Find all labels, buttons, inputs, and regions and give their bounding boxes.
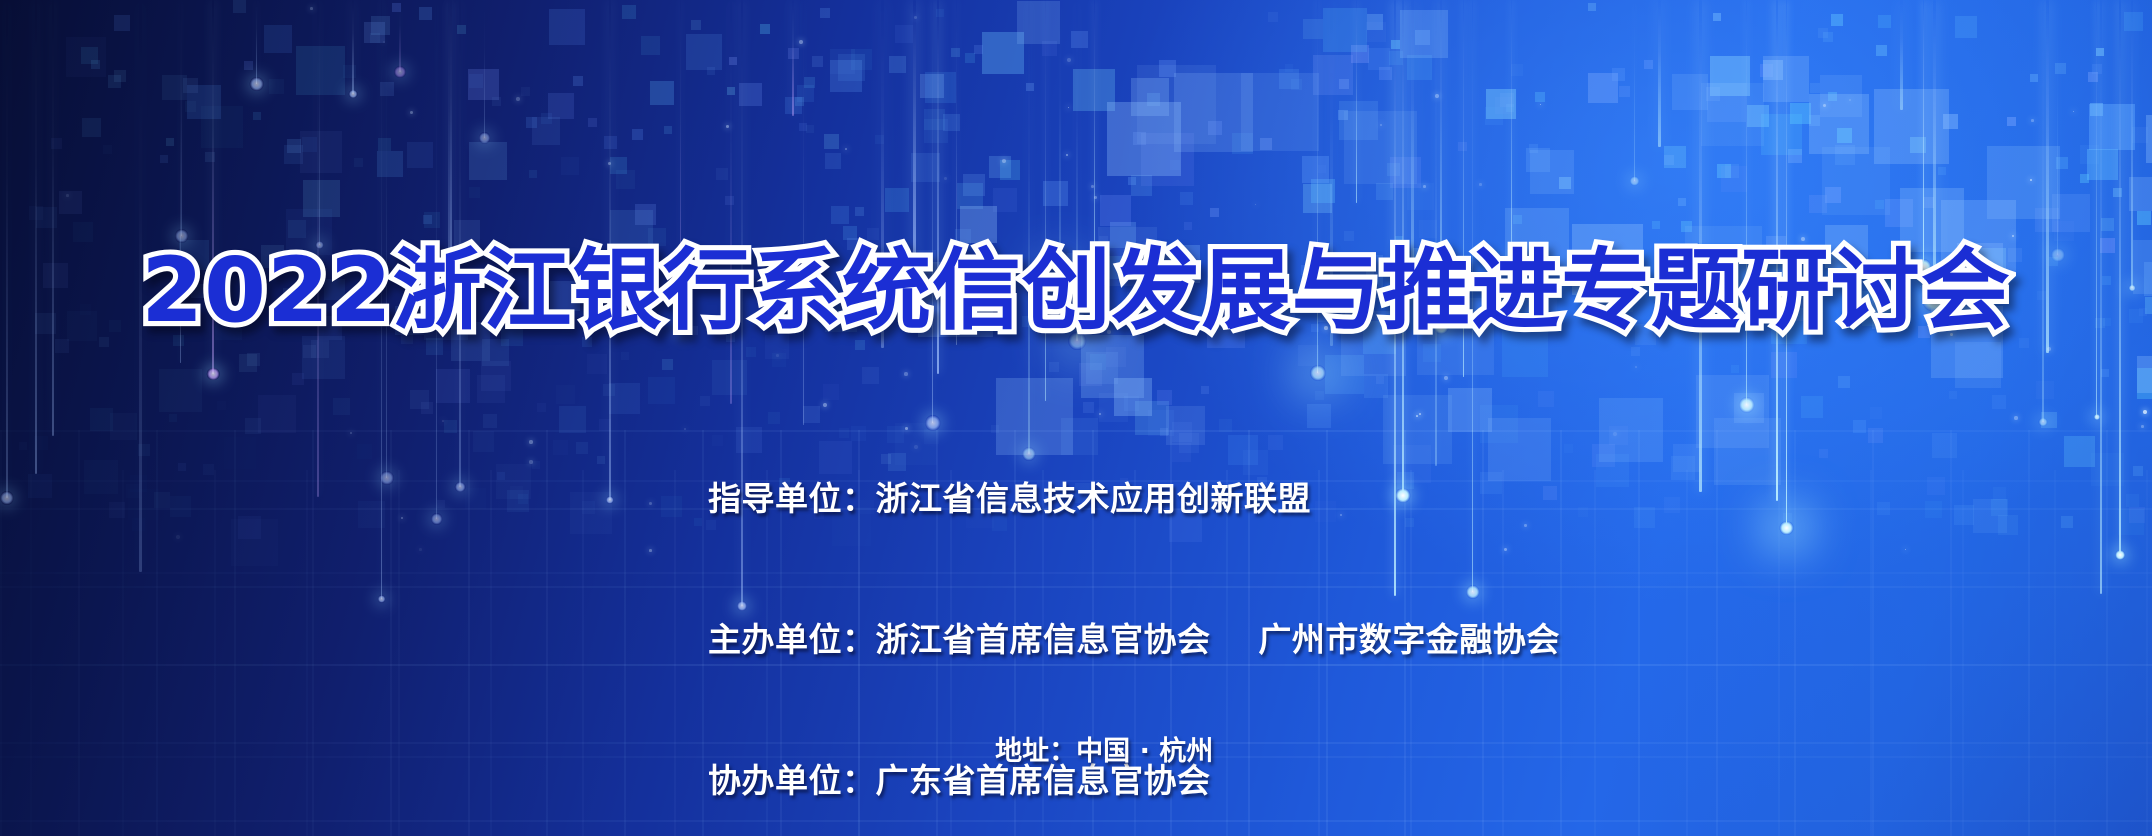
organization-value: 浙江省首席信息官协会 广州市数字金融协会 [875,620,1559,659]
organization-label: 主办单位： [708,620,876,659]
banner-title-container: 2022浙江银行系统信创发展与推进专题研讨会 [0,186,2152,394]
event-details-block: 地址：中国 · 杭州 时间：2022年11月24日 [0,684,2152,836]
event-location-label: 地址： [995,736,1076,767]
organization-label: 指导单位： [708,479,876,518]
event-date-row: 时间：2022年11月24日 [0,819,2152,836]
organization-row: 指导单位：浙江省信息技术应用创新联盟 [636,428,1560,569]
event-banner: 2022浙江银行系统信创发展与推进专题研讨会 指导单位：浙江省信息技术应用创新联… [0,0,2152,836]
page-title: 2022浙江银行系统信创发展与推进专题研讨会 [141,246,2010,335]
event-location-value: 中国 · 杭州 [1076,736,1213,767]
organization-value: 浙江省信息技术应用创新联盟 [875,479,1311,518]
event-location-row: 地址：中国 · 杭州 [0,684,2152,819]
